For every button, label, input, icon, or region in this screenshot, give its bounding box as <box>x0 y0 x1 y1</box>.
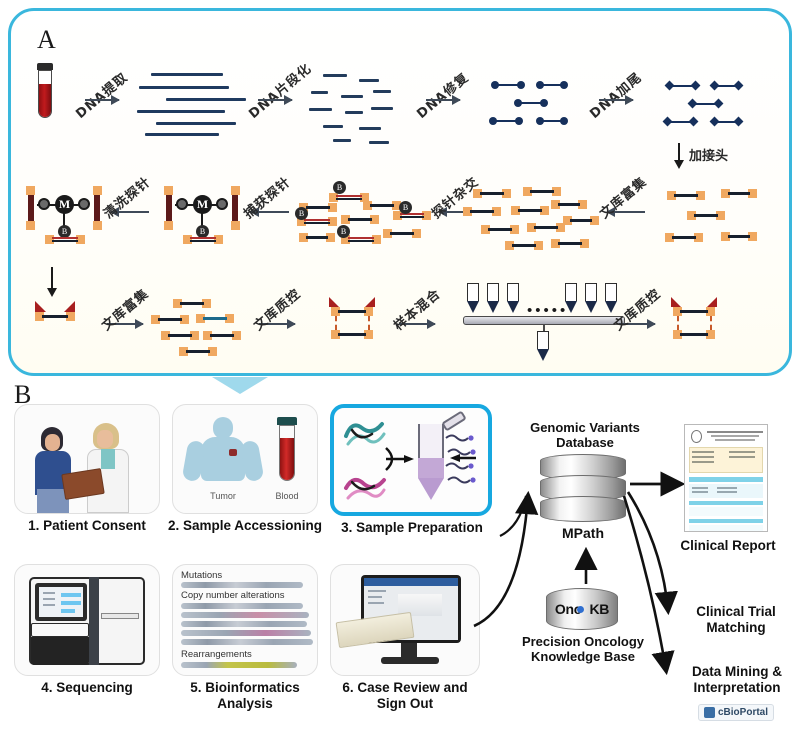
protein-teal-icon <box>342 416 388 452</box>
arrow-fragmentation <box>258 99 292 101</box>
oncokb-suffix: KB <box>589 601 609 617</box>
caption-sample-accessioning: 2. Sample Accessioning <box>164 518 326 534</box>
caption-sample-preparation: 3. Sample Preparation <box>326 520 498 536</box>
step-label-capture-probe: 捕获探针 <box>239 171 294 222</box>
patient-face <box>45 434 60 451</box>
arrow-extraction <box>85 99 119 101</box>
database-title-line1: Genomic Variants <box>500 420 670 435</box>
cbioportal-logo[interactable]: cBioPortal <box>698 704 774 721</box>
label-rearrangements: Rearrangements <box>181 649 252 660</box>
torso-head <box>213 417 233 439</box>
label-mutations: Mutations <box>181 570 222 581</box>
card-bioinformatics-analysis[interactable]: Mutations Copy number alterations Rearra… <box>172 564 318 676</box>
arrow-row2-to-row3 <box>51 267 53 289</box>
output-data-mining: Data Mining & Interpretation <box>676 664 798 696</box>
protein-magenta-icon <box>342 470 388 506</box>
library-qc-product-2 <box>671 297 717 341</box>
database-title-line2: Database <box>500 435 670 450</box>
chromosome-mutations <box>181 582 303 588</box>
sequencer-screen-bezel <box>35 583 87 621</box>
knowledge-base-title: Precision Oncology Knowledge Base <box>496 634 670 664</box>
doctor-scrub <box>101 449 115 469</box>
ctm-line1: Clinical Trial <box>678 604 794 620</box>
pcr-tube-rack: ••••• <box>463 283 611 358</box>
doctor-face <box>97 430 113 448</box>
library-qc-product-1 <box>329 297 375 341</box>
caption-case-review: 6. Case Review and Sign Out <box>326 680 484 712</box>
step-label-dna-tailing: DNA加尾 <box>585 67 645 122</box>
label-blood: Blood <box>263 491 311 501</box>
arrow-add-adapter <box>678 143 680 161</box>
magnetic-bead-complex-washed: M B <box>25 183 103 245</box>
database-title: Genomic Variants Database <box>500 420 670 450</box>
kb-title-line2: Knowledge Base <box>496 649 670 664</box>
database-name: MPath <box>540 526 626 541</box>
sequencer-divider <box>89 577 99 665</box>
cbioportal-mark-icon <box>704 707 715 718</box>
sequencer-door-handle <box>101 613 139 619</box>
genomic-variants-database-cylinder <box>540 454 626 522</box>
card-case-review[interactable] <box>330 564 480 676</box>
step-label-dna-fragmentation: DNA片段化 <box>244 58 315 122</box>
card-sequencing[interactable] <box>14 564 160 676</box>
arrow-repair <box>426 99 460 101</box>
nucleic-acid-strands-icon <box>444 430 492 494</box>
panel-a-workflow: A DNA提取 DNA片段化 DNA修复 <box>8 8 792 376</box>
monitor-base <box>381 657 439 664</box>
y-adapter-product <box>33 301 77 323</box>
label-tumor: Tumor <box>197 491 249 501</box>
step-label-library-enrich-2: 文库富集 <box>595 171 650 222</box>
panel-a-letter: A <box>37 25 56 55</box>
card-sample-accessioning[interactable]: Tumor Blood <box>172 404 318 514</box>
oncokb-logo-cylinder: OncoKB <box>546 588 618 630</box>
card-sample-preparation[interactable] <box>330 404 492 516</box>
magnetic-bead-complex-captured: M B <box>163 183 241 245</box>
caption-bioinformatics-analysis: 5. Bioinformatics Analysis <box>164 680 326 712</box>
dmi-line1: Data Mining & <box>676 664 798 680</box>
tumor-marker <box>229 449 237 456</box>
kb-title-line1: Precision Oncology <box>496 634 670 649</box>
chromosome-cna-1 <box>181 603 303 609</box>
caption-sequencing: 4. Sequencing <box>6 680 168 696</box>
label-copy-number: Copy number alterations <box>181 590 285 601</box>
output-clinical-report: Clinical Report <box>672 538 784 554</box>
chromosome-rearrangement <box>181 662 297 668</box>
sequencer-base <box>31 637 89 665</box>
card-patient-consent[interactable] <box>14 404 160 514</box>
dmi-line2: Interpretation <box>676 680 798 696</box>
arrow-tailing <box>599 99 633 101</box>
step-label-dna-repair: DNA修复 <box>412 67 472 122</box>
step-label-dna-extraction: DNA提取 <box>71 67 131 122</box>
output-clinical-trial-matching: Clinical Trial Matching <box>678 604 794 636</box>
cbioportal-name: cBioPortal <box>718 707 768 718</box>
chromosome-cna-5 <box>181 639 313 645</box>
step-label-wash-probe: 清洗探针 <box>99 171 154 222</box>
step-label-add-adapter: 加接头 <box>689 145 728 164</box>
sequencer-tray <box>31 623 89 637</box>
panel-b-clinical-pipeline: B 1. Patient Consent Tumor Blood 2. Samp… <box>0 376 800 736</box>
torso-body <box>201 437 245 481</box>
tube-lid <box>441 410 467 431</box>
accession-tube-body <box>279 425 295 481</box>
ctm-line2: Matching <box>678 620 794 636</box>
chromosome-cna-2 <box>181 612 309 618</box>
chromosome-cna-4 <box>181 630 311 636</box>
chromosome-cna-3 <box>181 621 307 627</box>
accession-tube-cap <box>277 417 297 425</box>
caption-patient-consent: 1. Patient Consent <box>6 518 168 534</box>
oncokb-blue-dot-icon <box>577 606 584 613</box>
clinical-report-thumbnail[interactable] <box>684 424 768 532</box>
arrow-into-tube-left <box>384 446 416 472</box>
prep-microtube <box>418 424 444 500</box>
